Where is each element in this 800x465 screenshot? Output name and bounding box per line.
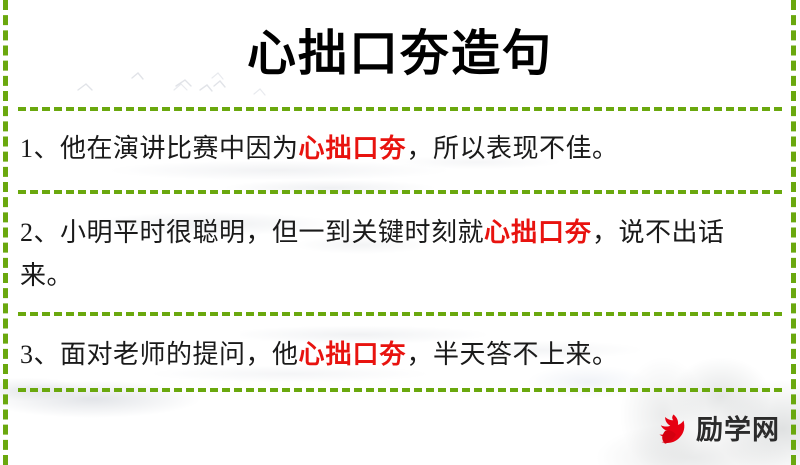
idiom-highlight-3: 心拙口夯 [299, 340, 407, 369]
sentence-text-before-3: 面对老师的提问，他 [60, 340, 299, 369]
sentence-text-after-3: ，半天答不上来。 [407, 340, 619, 369]
idiom-highlight-1: 心拙口夯 [299, 134, 407, 163]
sentence-item-3: 3、面对老师的提问，他心拙口夯，半天答不上来。 [20, 333, 772, 376]
sentence-text-before-2: 小明平时很聪明，但一到关键时刻就 [60, 218, 484, 247]
site-logo-text: 励学网 [696, 415, 780, 445]
left-dashed-border [3, 0, 8, 465]
document-page: 心拙口夯造句 1、他在演讲比赛中因为心拙口夯，所以表现不佳。 2、小明平时很聪明… [0, 0, 800, 465]
divider-above-sentence-two [18, 190, 782, 194]
ink-wash-mist-upper [180, 168, 520, 208]
sentence-number-1: 1、 [20, 134, 60, 163]
sentence-number-2: 2、 [20, 218, 60, 247]
page-title: 心拙口夯造句 [0, 24, 800, 84]
sentence-text-after-1: ，所以表现不佳。 [407, 134, 619, 163]
sentence-text-before-1: 他在演讲比赛中因为 [60, 134, 299, 163]
idiom-highlight-2: 心拙口夯 [484, 218, 592, 247]
divider-below-sentence-three [18, 388, 782, 392]
sentence-number-3: 3、 [20, 340, 60, 369]
site-logo[interactable]: 励学网 [649, 409, 780, 451]
sentence-item-1: 1、他在演讲比赛中因为心拙口夯，所以表现不佳。 [20, 127, 772, 170]
right-dashed-border [791, 0, 796, 465]
flame-swoosh-icon [649, 410, 689, 450]
divider-above-sentence-three [18, 312, 782, 316]
sentence-item-2: 2、小明平时很聪明，但一到关键时刻就心拙口夯，说不出话来。 [20, 211, 772, 297]
divider-above-sentence-one [18, 107, 782, 111]
